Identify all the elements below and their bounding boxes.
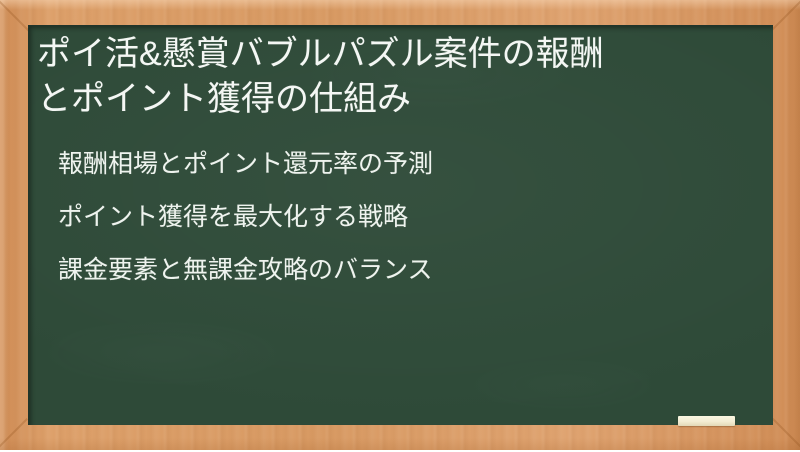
frame-miter-bottom-right: [772, 418, 800, 452]
list-item: 報酬相場とポイント還元率の予測: [58, 152, 718, 177]
frame-miter-top-left: [0, 0, 30, 32]
frame-miter-top-right: [770, 0, 800, 32]
bullet-list: 報酬相場とポイント還元率の予測 ポイント獲得を最大化する戦略 課金要素と無課金攻…: [58, 152, 718, 311]
chalkboard-surface: ポイ活&懸賞バブルパズル案件の報酬 とポイント獲得の仕組み 報酬相場とポイント還…: [28, 25, 773, 425]
list-item: 課金要素と無課金攻略のバランス: [58, 258, 718, 283]
slide-title: ポイ活&懸賞バブルパズル案件の報酬 とポイント獲得の仕組み: [37, 32, 737, 122]
frame-miter-bottom-left: [0, 418, 28, 452]
list-item: ポイント獲得を最大化する戦略: [58, 205, 718, 230]
chalkboard-slide: ポイ活&懸賞バブルパズル案件の報酬 とポイント獲得の仕組み 報酬相場とポイント還…: [0, 0, 800, 450]
chalk-stick: [678, 416, 735, 426]
